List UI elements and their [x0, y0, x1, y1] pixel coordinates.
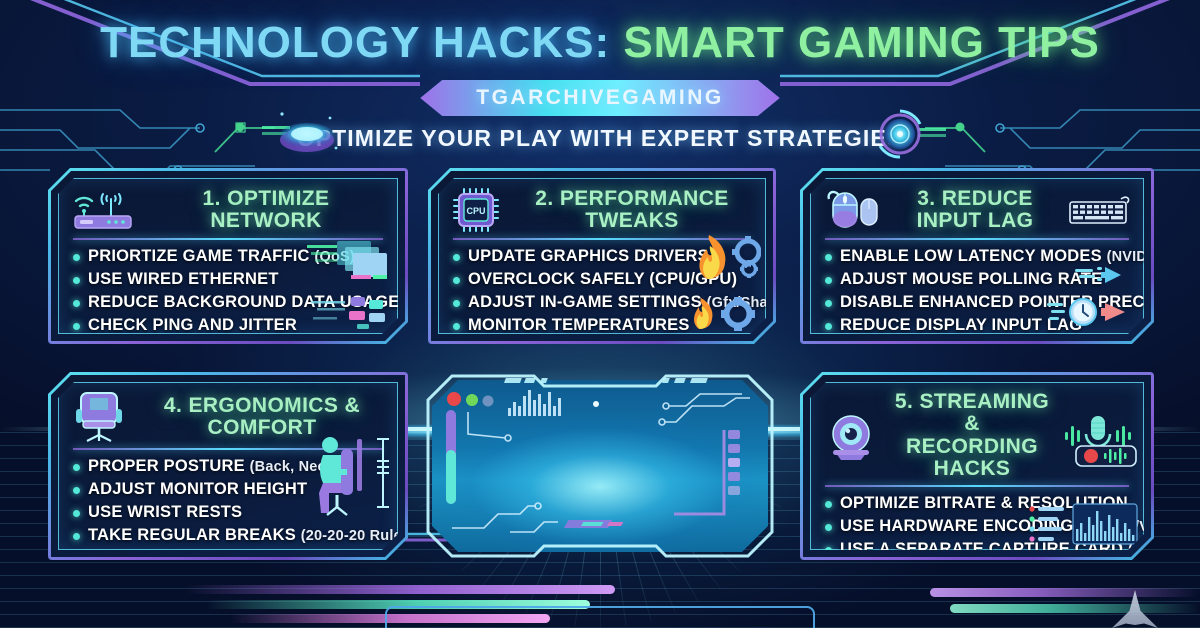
gaming-chair-icon: [71, 391, 129, 443]
list-item: PRIORTIZE GAME TRAFFIC (QoS): [71, 247, 385, 266]
card-ergonomics-comfort[interactable]: 4. ERGONOMICS & COMFORT PROPER POSTURE (…: [48, 372, 408, 560]
list-item: REDUCE BACKGROUND DATA USAGE: [71, 293, 385, 312]
card-optimize-network[interactable]: 1. OPTIMIZE NETWORK PRIORTIZE GAME TRAFF…: [48, 168, 408, 344]
card-title: 5. STREAMING & RECORDING HACKS: [889, 391, 1055, 480]
window-dot-red: [447, 392, 461, 406]
card-bullet-list: UPDATE GRAPHICS DRIVERS OVERCLOCK SAFELY…: [451, 247, 753, 335]
cpu-chip-icon: CPU: [451, 187, 501, 233]
page-subtitle: OPTIMIZE YOUR PLAY WITH EXPERT STRATEGIE…: [0, 125, 1200, 152]
window-dot-blue: [483, 396, 494, 407]
title-part-technology: TECHNOLOGY HACKS:: [100, 18, 623, 67]
webcam-icon: [823, 410, 879, 462]
card-bullet-list: PROPER POSTURE (Back, Neck) ADJUST MONIT…: [71, 457, 385, 545]
list-item: UPDATE GRAPHICS DRIVERS: [451, 247, 753, 266]
card-divider: [453, 238, 751, 240]
svg-text:CPU: CPU: [466, 206, 485, 216]
card-divider: [825, 238, 1129, 240]
list-item: PROPER POSTURE (Back, Neck): [71, 457, 385, 476]
card-divider: [825, 485, 1129, 487]
page-title: TECHNOLOGY HACKS: SMART GAMING TIPS: [0, 18, 1200, 68]
bar-chart-icon: [508, 390, 561, 416]
list-item: ADJUST IN-GAME SETTINGS (Gfx/Shadows): [451, 293, 753, 312]
infographic-canvas: TECHNOLOGY HACKS: SMART GAMING TIPS TGAR…: [0, 0, 1200, 628]
window-dot-green: [466, 394, 478, 406]
hud-display-panel: [424, 372, 776, 560]
keyboard-icon: [1069, 195, 1131, 225]
list-item: USE WIRED ETHERNET: [71, 270, 385, 289]
router-icon: [71, 188, 137, 232]
card-streaming-recording[interactable]: 5. STREAMING & RECORDING HACKS: [800, 372, 1154, 560]
card-divider: [73, 238, 383, 240]
glowing-portal-disc: [262, 104, 346, 164]
list-item: OPTIMIZE BITRATE & RESOLUTION: [823, 494, 1131, 513]
list-item: OVERCLOCK SAFELY (CPU/GPU): [451, 270, 753, 289]
card-bullet-list: ENABLE LOW LATENCY MODES (NVIDIA/AMD) AD…: [823, 247, 1131, 335]
card-bullet-list: PRIORTIZE GAME TRAFFIC (QoS) USE WIRED E…: [71, 247, 385, 335]
antenna-icon: [101, 194, 120, 217]
list-item: USE A SEPARATE CAPTURE CARD (for PCs): [823, 540, 1131, 559]
light-streak: [930, 588, 1200, 597]
list-item: CHECK PING AND JITTER: [71, 316, 385, 335]
card-divider: [73, 448, 383, 450]
hud-reticle-circle: [862, 104, 946, 164]
brand-badge-label: TGARCHIVEGAMING: [476, 86, 724, 109]
brand-badge: TGARCHIVEGAMING: [420, 80, 780, 116]
hud-frame: [424, 372, 776, 560]
list-item: REDUCE DISPLAY INPUT LAG: [823, 316, 1131, 335]
card-title: 1. OPTIMIZE NETWORK: [147, 188, 385, 233]
light-streak: [950, 604, 1200, 613]
title-part-gaming: SMART GAMING TIPS: [623, 18, 1100, 67]
list-item: ENABLE LOW LATENCY MODES (NVIDIA/AMD): [823, 247, 1131, 266]
microphone-icon: [1065, 412, 1131, 460]
list-item: MONITOR TEMPERATURES: [451, 316, 753, 335]
card-title: 4. ERGONOMICS & COMFORT: [139, 395, 385, 440]
light-streak: [185, 585, 615, 594]
frame-bottom-tab: [385, 606, 815, 628]
list-item: ADJUST MOUSE POLLING RATE: [823, 270, 1131, 289]
list-item: TAKE REGULAR BREAKS (20-20-20 Rule): [71, 526, 385, 545]
list-item: USE WRIST RESTS: [71, 503, 385, 522]
card-reduce-input-lag[interactable]: 3. REDUCE INPUT LAG ENABLE LOW LATENCY M…: [800, 168, 1154, 344]
card-performance-tweaks[interactable]: CPU 2. PERFORMANCE TWEAKS UPDATE GRAPHIC…: [428, 168, 776, 344]
list-item: ADJUST MONITOR HEIGHT: [71, 480, 385, 499]
mouse-icon: [823, 187, 881, 233]
list-item: USE HARDWARE ENCODING (NVENC/VCE): [823, 517, 1131, 536]
card-title: 2. PERFORMANCE TWEAKS: [511, 188, 753, 233]
card-title: 3. REDUCE INPUT LAG: [891, 188, 1059, 233]
list-item: DISABLE ENHANCED POINTER PRECISION: [823, 293, 1131, 312]
